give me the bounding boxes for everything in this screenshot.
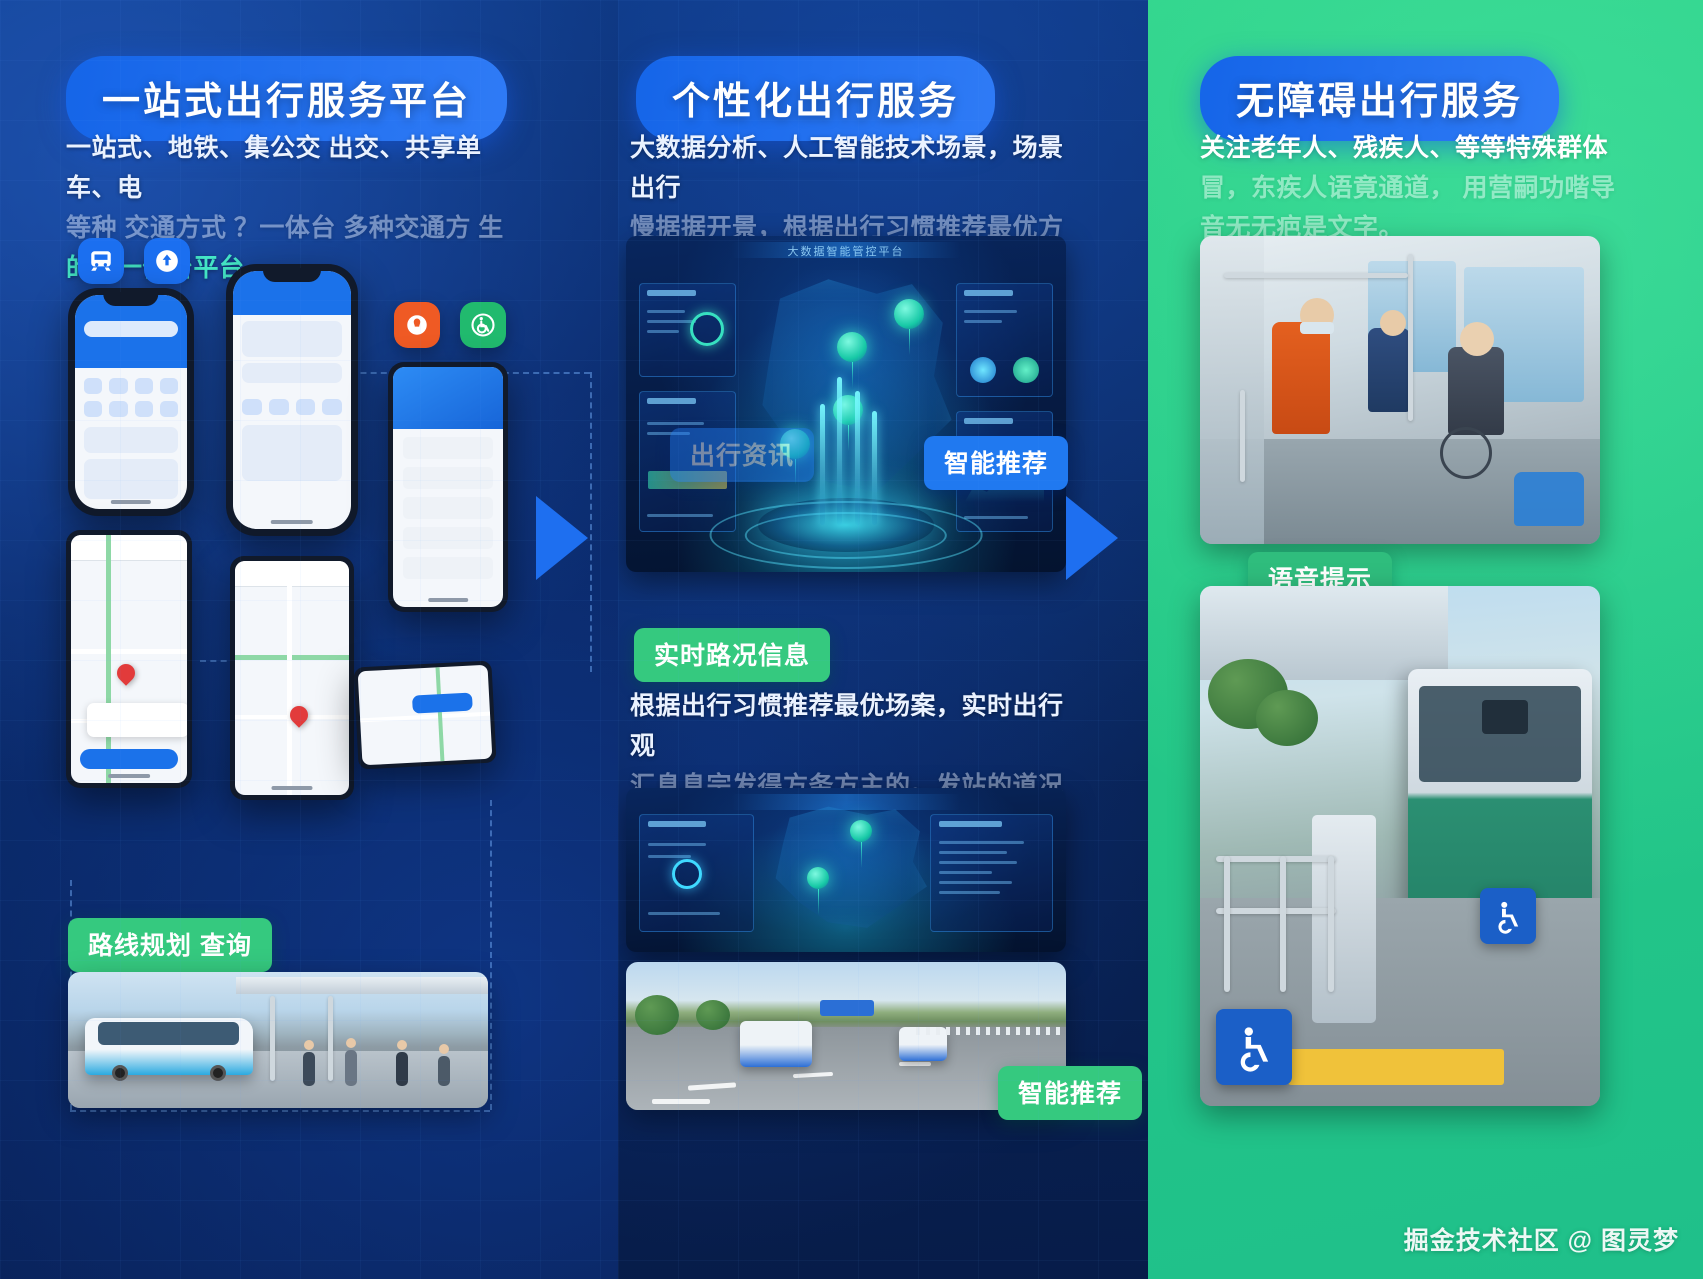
pedestrian — [438, 1056, 450, 1086]
grid-cell[interactable] — [84, 401, 102, 417]
column-3-desc-line-2: 冒，东疾人语竟通道， 用营嗣功喈导 — [1200, 168, 1640, 208]
phone-map-screen-1[interactable] — [66, 530, 192, 788]
infographic-poster: 一站式出行服务平台 一站式、地铁、集公交 出交、共享单车、电 等种 交通方式 ？… — [0, 0, 1703, 1279]
travel-news-tag: 出行资讯 — [670, 428, 814, 482]
grid-cell[interactable] — [242, 399, 262, 415]
panel-gauge — [672, 859, 702, 889]
metro-icon — [88, 248, 114, 274]
map-pin[interactable] — [114, 660, 139, 685]
grid-cell[interactable] — [322, 399, 342, 415]
bus-vehicle — [85, 1018, 253, 1075]
lane-marking — [899, 1062, 931, 1066]
panel-row — [939, 871, 992, 874]
smart-recommend-tag-wrap: 智能推荐 — [924, 436, 1068, 490]
ticket-icon — [154, 248, 180, 274]
connector-dashed-6 — [490, 800, 492, 1110]
phone-shortcut-grid[interactable] — [233, 389, 351, 419]
phone-notch — [103, 292, 158, 306]
passenger-head — [1380, 310, 1406, 336]
road-sign — [820, 1000, 874, 1016]
guard-rail — [916, 1027, 1066, 1034]
ticket-kiosk — [1312, 815, 1376, 1023]
hologram-base — [758, 498, 934, 552]
phone-notch — [263, 268, 321, 282]
map-outline — [758, 801, 934, 939]
accessible-app-icon[interactable] — [460, 302, 506, 348]
watermark: 掘金技术社区 @ 图灵梦 — [1404, 1221, 1679, 1257]
panel-title-bar — [647, 290, 696, 296]
wheelchair-icon — [1229, 1022, 1279, 1072]
panel-row — [939, 891, 1000, 894]
grid-cell[interactable] — [109, 401, 127, 417]
column-2-desc2-line-1: 根据出行习惯推荐最优场案，实时出行观 — [630, 686, 1070, 766]
column-2-desc-line-1: 大数据分析、人工智能技术场景，场景出行 — [630, 128, 1070, 208]
road-smart-recommend-tag: 智能推荐 — [998, 1066, 1142, 1120]
wheelchair-icon — [1490, 898, 1526, 934]
dashboard-title: 大数据智能管控平台 — [788, 243, 905, 259]
phone-search-screen[interactable] — [226, 264, 358, 536]
tactile-paving — [1288, 1049, 1504, 1085]
wheelchair-passenger — [1448, 347, 1504, 435]
guard-rail-post — [1328, 856, 1334, 991]
traffic-monitor-dashboard — [626, 788, 1066, 952]
phone-home-indicator — [428, 598, 468, 602]
handrail — [1224, 273, 1408, 278]
panel-gauge — [690, 312, 724, 346]
grid-cell[interactable] — [135, 401, 153, 417]
column-3-description: 关注老年人、残疾人、等等特殊群体 冒，东疾人语竟通道， 用营嗣功喈导 音无无疤是… — [1200, 128, 1640, 248]
travel-news-tag-wrap: 出行资讯 — [670, 428, 814, 482]
tree — [696, 1000, 730, 1030]
accessible-station-photo — [1200, 586, 1600, 1106]
route-planning-tag: 路线规划 查询 — [68, 918, 272, 972]
bus-window — [98, 1022, 239, 1045]
handrail — [1240, 390, 1245, 482]
grid-cell[interactable] — [160, 378, 178, 394]
panel-title-bar — [939, 821, 1002, 827]
map-action-chip[interactable] — [412, 692, 473, 713]
realtime-traffic-tag: 实时路况信息 — [634, 628, 830, 682]
map-road — [287, 561, 292, 795]
metro-app-icon[interactable] — [78, 238, 124, 284]
panel-title-bar — [964, 290, 1013, 296]
face-mask-icon — [1300, 322, 1334, 334]
panel-donut — [1013, 357, 1039, 383]
column-one-stop-platform: 一站式出行服务平台 一站式、地铁、集公交 出交、共享单车、电 等种 交通方式 ？… — [0, 0, 618, 1279]
bus-wheel — [112, 1065, 128, 1081]
map-road — [360, 712, 490, 723]
guard-rail — [1216, 856, 1336, 862]
phone-banner-card[interactable] — [84, 459, 178, 499]
panel-row — [647, 330, 679, 333]
dashboard-panel-left-top — [639, 283, 736, 377]
chevron-right-icon — [1066, 490, 1148, 586]
passenger-standing — [1368, 328, 1410, 412]
panel-row — [647, 320, 696, 323]
panel-row — [939, 861, 1017, 864]
traffic-map-visual — [758, 801, 934, 939]
phone-map-screen-2[interactable] — [230, 556, 354, 800]
panel-row — [648, 912, 720, 915]
panel-row — [964, 320, 1002, 323]
realtime-traffic-tag-wrap: 实时路况信息 — [634, 628, 830, 682]
bus-interior-wall — [1200, 236, 1264, 544]
wheelchair-wheel — [1440, 427, 1492, 479]
map-road — [71, 649, 187, 654]
list-item[interactable] — [403, 557, 493, 579]
route-planning-tag-wrap: 路线规划 查询 — [68, 918, 272, 972]
phone-list-screen[interactable] — [388, 362, 508, 612]
panel-row — [648, 843, 706, 846]
pedestrian — [303, 1052, 315, 1086]
map-info-card[interactable] — [87, 703, 187, 737]
panel-row — [964, 310, 1017, 313]
column-accessible-travel: 无障碍出行服务 关注老年人、残疾人、等等特殊群体 冒，东疾人语竟通道， 用营嗣功… — [1148, 0, 1703, 1279]
phone-home-indicator — [271, 786, 312, 790]
monitor-panel-left — [639, 814, 753, 932]
phone-home-indicator — [271, 520, 313, 524]
panel-row — [647, 514, 713, 517]
panel-title-bar — [964, 418, 1013, 424]
dashboard-panel-right-top — [956, 283, 1053, 397]
bike-icon — [404, 312, 430, 338]
panel-row — [964, 516, 1028, 519]
wheelchair-icon — [469, 311, 497, 339]
chevron-arrow-2 — [1066, 490, 1148, 591]
chevron-right-icon — [536, 490, 618, 586]
phone-home-indicator — [111, 500, 151, 504]
panel-title-bar — [647, 398, 696, 404]
phone-home-indicator — [108, 774, 150, 778]
tree — [635, 995, 679, 1035]
chevron-arrow-1 — [536, 490, 618, 591]
grid-cell[interactable] — [160, 401, 178, 417]
list-item[interactable] — [403, 437, 493, 459]
phone-list-hero — [393, 367, 503, 429]
bike-app-icon[interactable] — [394, 302, 440, 348]
list-item[interactable] — [403, 497, 493, 519]
phone-map-screen-3[interactable] — [353, 660, 496, 769]
panel-title-bar — [648, 821, 706, 827]
bus-vehicle — [740, 1021, 812, 1067]
shelter-post — [328, 996, 333, 1080]
bus-seat — [1514, 472, 1584, 526]
list-item[interactable] — [403, 527, 493, 549]
grid-cell[interactable] — [135, 378, 153, 394]
list-item[interactable] — [403, 467, 493, 489]
monitor-panel-right — [930, 814, 1053, 932]
guard-rail-post — [1280, 856, 1286, 991]
panel-row — [939, 851, 1007, 854]
grid-cell[interactable] — [296, 399, 316, 415]
phone-search-bar[interactable] — [84, 321, 178, 337]
big-data-dashboard: 大数据智能管控平台 — [626, 236, 1066, 572]
column-3-desc-line-1: 关注老年人、残疾人、等等特殊群体 — [1200, 128, 1640, 168]
smart-recommend-tag: 智能推荐 — [924, 436, 1068, 490]
road-smart-recommend-tag-wrap: 智能推荐 — [998, 1066, 1142, 1120]
grid-cell[interactable] — [84, 378, 102, 394]
grid-cell[interactable] — [109, 378, 127, 394]
info-display — [1482, 700, 1528, 734]
phone-content-card[interactable] — [242, 425, 342, 481]
panel-row — [647, 310, 685, 313]
pedestrian — [396, 1052, 408, 1086]
column-personalized-travel: 个性化出行服务 大数据分析、人工智能技术场景，场景出行 慢据据开景，根据出行习惯… — [618, 0, 1148, 1279]
wheelchair-sign-door — [1480, 888, 1536, 944]
map-confirm-button[interactable] — [80, 749, 177, 769]
lane-marking — [652, 1099, 710, 1104]
panel-row — [939, 881, 1012, 884]
map-node — [894, 299, 924, 329]
panel-row — [939, 841, 1024, 844]
shelter-roof — [236, 977, 488, 993]
phone-app-grid[interactable] — [75, 368, 187, 421]
pedestrian — [345, 1050, 357, 1086]
passenger-standing — [1272, 322, 1330, 434]
panel-row — [647, 422, 704, 425]
bus-stop-photo — [68, 972, 488, 1108]
handrail — [1408, 254, 1413, 420]
grid-cell[interactable] — [269, 399, 289, 415]
shelter-post — [270, 996, 275, 1080]
passenger-head — [1460, 322, 1494, 356]
phone-promo-card[interactable] — [84, 427, 178, 453]
phone-home-screen[interactable] — [68, 288, 194, 516]
map-topbar — [71, 535, 187, 561]
phone-search-field[interactable] — [242, 321, 342, 357]
panel-donut — [970, 357, 996, 383]
column-1-desc-line-1: 一站式、地铁、集公交 出交、共享单车、电 — [66, 128, 516, 208]
guard-rail — [1216, 908, 1336, 914]
panel-row — [648, 855, 691, 858]
guard-rail-post — [1224, 856, 1230, 991]
column-1-desc-line-2: 等种 交通方式 ？一体台 多种交通方 生 — [66, 208, 516, 248]
connector-dashed-5 — [70, 1110, 490, 1112]
map-node — [850, 820, 872, 842]
tree — [1256, 690, 1318, 746]
bus-interior-photo — [1200, 236, 1600, 544]
wheelchair-sign-large — [1216, 1009, 1292, 1085]
phone-result-row[interactable] — [242, 363, 342, 383]
ticket-app-icon[interactable] — [144, 238, 190, 284]
map-road-green — [106, 535, 111, 783]
